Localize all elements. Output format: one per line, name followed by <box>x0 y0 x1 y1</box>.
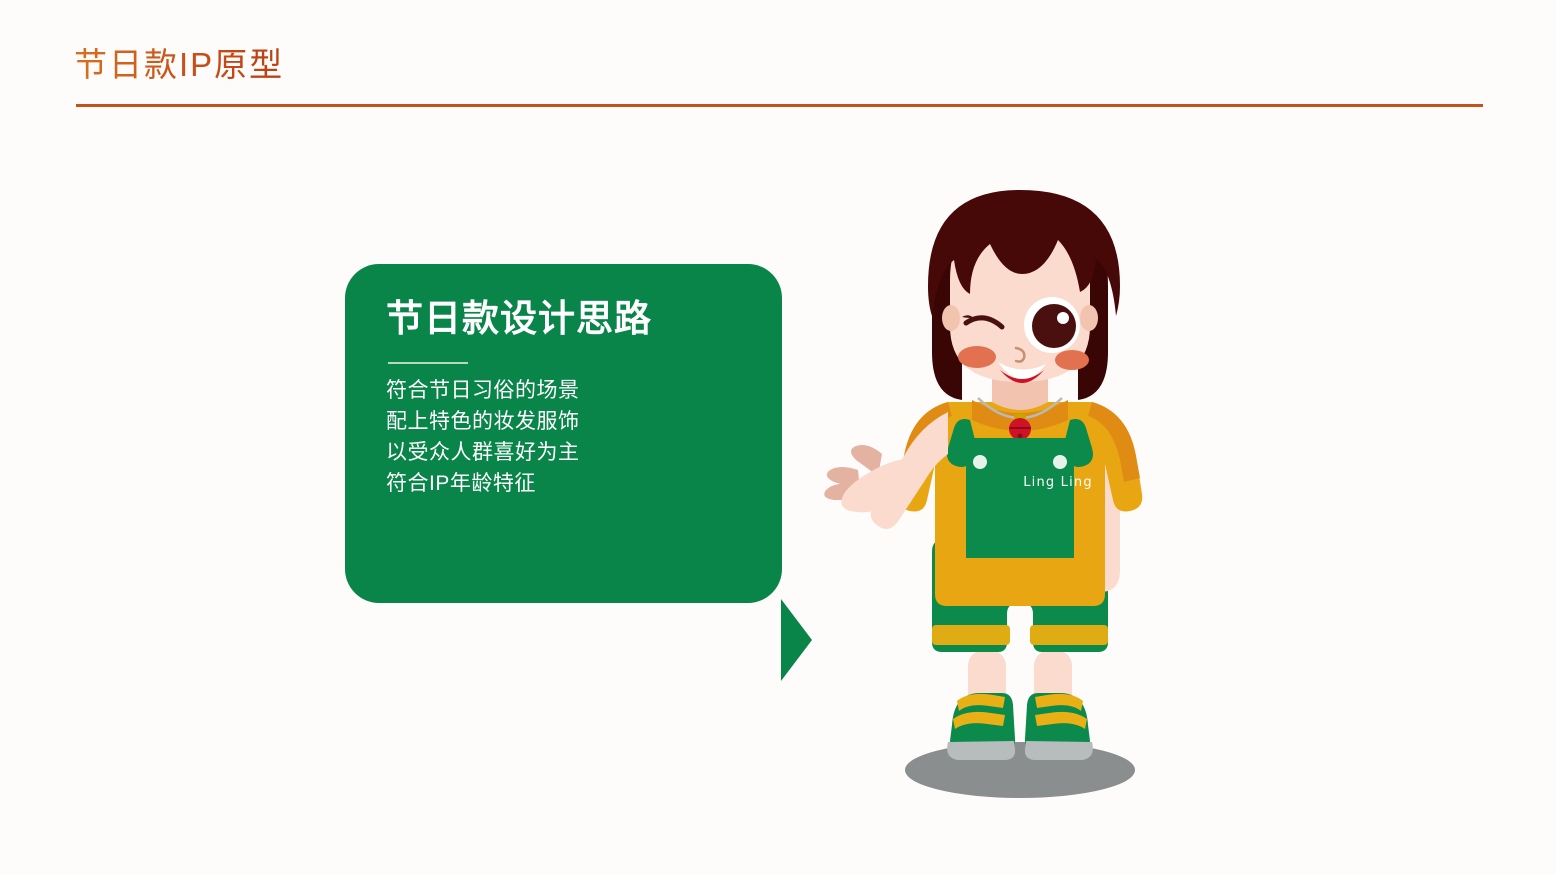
left-cuff <box>932 625 1010 645</box>
callout-heading: 节日款设计思路 <box>386 295 652 343</box>
mascot-illustration: Ling Ling <box>820 170 1220 810</box>
callout-heading-divider <box>388 362 468 364</box>
design-concept-callout: 节日款设计思路 符合节日习俗的场景 配上特色的妆发服饰 以受众人群喜好为主 符合… <box>345 264 782 603</box>
left-shoe <box>947 693 1015 760</box>
list-item: 符合IP年龄特征 <box>386 468 736 499</box>
bib-button-left <box>973 455 987 469</box>
left-cheek-blush <box>958 346 996 368</box>
callout-pointer-arrow <box>781 599 812 681</box>
right-cuff <box>1030 625 1108 645</box>
title-underline-rule <box>76 104 1483 107</box>
callout-bullet-list: 符合节日习俗的场景 配上特色的妆发服饰 以受众人群喜好为主 符合IP年龄特征 <box>386 375 736 499</box>
right-cheek-blush <box>1055 350 1089 370</box>
left-arm-waving <box>824 412 948 529</box>
open-right-eye <box>1024 297 1080 353</box>
list-item: 配上特色的妆发服饰 <box>386 406 736 437</box>
overalls-bib <box>947 419 1093 558</box>
left-ear <box>942 305 960 331</box>
mascot-svg <box>820 170 1220 810</box>
bib-button-right <box>1053 455 1067 469</box>
right-ear <box>1080 305 1098 331</box>
list-item: 符合节日习俗的场景 <box>386 375 736 406</box>
slide-header: 节日款IP原型 <box>0 0 1556 120</box>
right-shoe <box>1025 693 1093 760</box>
page-title: 节日款IP原型 <box>74 44 284 86</box>
list-item: 以受众人群喜好为主 <box>386 437 736 468</box>
ground-shadow-ellipse <box>905 742 1135 798</box>
